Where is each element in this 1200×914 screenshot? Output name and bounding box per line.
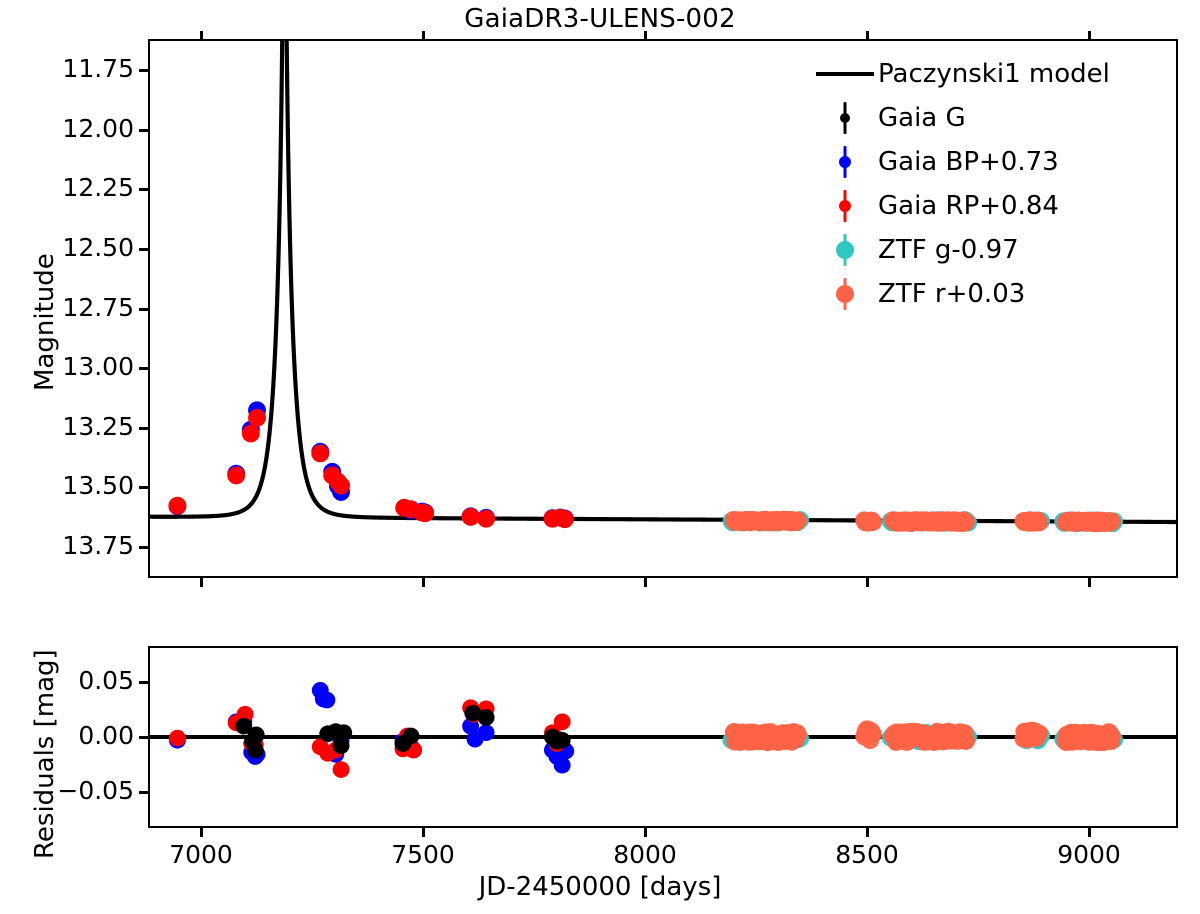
ytick-mark-main-8 <box>139 546 148 549</box>
main-data-points <box>168 401 1123 532</box>
legend-marker-5 <box>812 272 878 316</box>
xtick-mark-resid-1 <box>422 828 425 837</box>
xtick-label-4: 9000 <box>1029 840 1149 869</box>
ytick-label-resid-2: −0.05 <box>8 776 134 805</box>
legend-item-1: Gaia G <box>812 96 1172 140</box>
ytick-mark-main-5 <box>139 367 148 370</box>
residual-data-points <box>169 682 1123 778</box>
marker-dot-icon <box>836 241 854 259</box>
ytick-label-main-5: 13.00 <box>8 352 134 381</box>
xtick-mark-resid-3 <box>866 828 869 837</box>
legend-item-5: ZTF r+0.03 <box>812 272 1172 316</box>
xtick-mark-resid-4 <box>1088 828 1091 837</box>
errorbar-dot-icon <box>832 142 858 182</box>
residuals-y-axis-label: Residuals [mag] <box>30 649 60 859</box>
legend-item-3: Gaia RP+0.84 <box>812 184 1172 228</box>
ytick-mark-main-0 <box>139 69 148 72</box>
ytick-mark-main-3 <box>139 248 148 251</box>
ytick-label-main-4: 12.75 <box>8 293 134 322</box>
marker-dot-icon <box>839 156 851 168</box>
xtick-mark-main-1 <box>422 578 425 587</box>
xtick-label-3: 8500 <box>807 840 927 869</box>
legend-marker-4 <box>812 228 878 272</box>
marker-dot-icon <box>840 113 850 123</box>
legend-marker-1 <box>812 96 878 140</box>
xtick-mark-main-0 <box>200 578 203 587</box>
legend-label-2: Gaia BP+0.73 <box>878 149 1059 175</box>
xtick-mark-main-4 <box>1088 578 1091 587</box>
legend-marker-3 <box>812 184 878 228</box>
marker-dot-icon <box>839 200 851 212</box>
legend-marker-2 <box>812 140 878 184</box>
ytick-label-resid-0: 0.05 <box>8 666 134 695</box>
errorbar-dot-icon <box>832 274 858 314</box>
ytick-label-main-6: 13.25 <box>8 412 134 441</box>
xtick-mark-main-3 <box>866 578 869 587</box>
ytick-mark-resid-0 <box>139 681 148 684</box>
ytick-mark-main-7 <box>139 486 148 489</box>
xtick-mark-resid-2 <box>644 828 647 837</box>
errorbar-dot-icon <box>832 186 858 226</box>
ytick-mark-main-2 <box>139 188 148 191</box>
legend-label-4: ZTF g-0.97 <box>878 237 1019 263</box>
legend-label-0: Paczynski1 model <box>878 61 1110 87</box>
xtick-label-0: 7000 <box>141 840 261 869</box>
xtick-label-1: 7500 <box>363 840 483 869</box>
xtick-mark-main-top-2 <box>644 31 647 40</box>
legend-label-1: Gaia G <box>878 105 966 131</box>
ytick-label-main-8: 13.75 <box>8 531 134 560</box>
residuals-plot-canvas <box>150 648 1176 826</box>
xtick-mark-main-2 <box>644 578 647 587</box>
xtick-mark-resid-0 <box>200 828 203 837</box>
page-title: GaiaDR3-ULENS-002 <box>0 4 1200 34</box>
xtick-mark-main-top-3 <box>866 31 869 40</box>
xtick-mark-main-top-1 <box>422 31 425 40</box>
ytick-mark-resid-1 <box>139 736 148 739</box>
marker-dot-icon <box>836 285 854 303</box>
ytick-label-main-7: 13.50 <box>8 471 134 500</box>
xtick-label-2: 8000 <box>585 840 705 869</box>
ytick-label-main-0: 11.75 <box>8 54 134 83</box>
ytick-mark-main-4 <box>139 308 148 311</box>
legend-item-2: Gaia BP+0.73 <box>812 140 1172 184</box>
microlensing-lightcurve-figure: GaiaDR3-ULENS-002 11.7512.0012.2512.5012… <box>0 0 1200 914</box>
legend-item-0: Paczynski1 model <box>812 52 1172 96</box>
legend-marker-0 <box>812 52 878 96</box>
ytick-mark-main-6 <box>139 427 148 430</box>
legend: Paczynski1 modelGaia GGaia BP+0.73Gaia R… <box>812 52 1172 316</box>
errorbar-dot-icon <box>832 98 858 138</box>
ytick-label-main-1: 12.00 <box>8 114 134 143</box>
ytick-label-main-3: 12.50 <box>8 233 134 262</box>
main-y-axis-label: Magnitude <box>30 253 60 391</box>
x-axis-label: JD-2450000 [days] <box>0 872 1200 902</box>
ytick-label-main-2: 12.25 <box>8 173 134 202</box>
ytick-mark-resid-2 <box>139 791 148 794</box>
legend-label-5: ZTF r+0.03 <box>878 281 1025 307</box>
errorbar-dot-icon <box>832 230 858 270</box>
legend-item-4: ZTF g-0.97 <box>812 228 1172 272</box>
ytick-label-resid-1: 0.00 <box>8 721 134 750</box>
ytick-mark-main-1 <box>139 129 148 132</box>
xtick-mark-main-top-0 <box>200 31 203 40</box>
residuals-axes <box>148 646 1178 828</box>
xtick-mark-main-top-4 <box>1088 31 1091 40</box>
legend-label-3: Gaia RP+0.84 <box>878 193 1059 219</box>
legend-line-icon <box>816 72 874 76</box>
